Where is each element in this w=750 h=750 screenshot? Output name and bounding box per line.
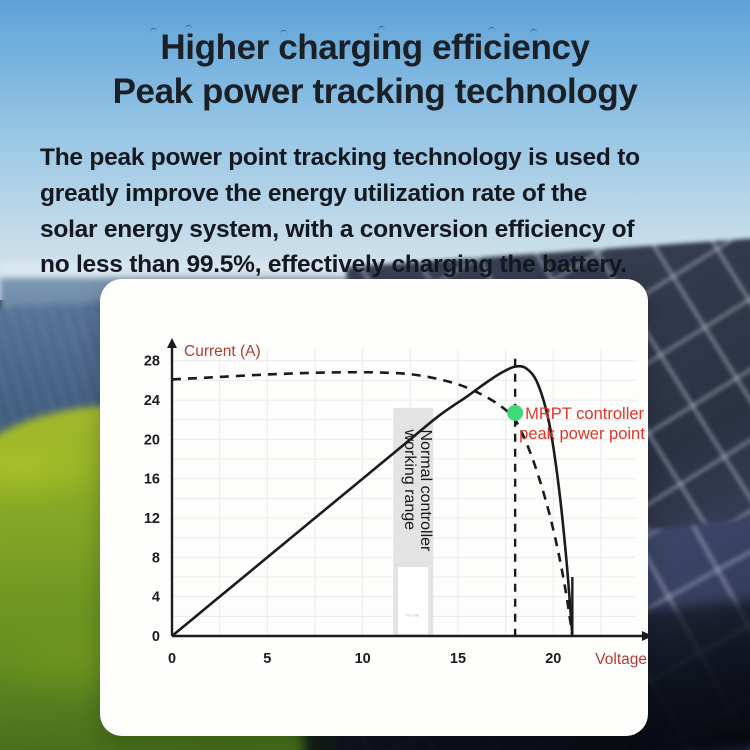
x-tick-label: 20 — [545, 651, 561, 667]
x-tick-label: 5 — [263, 651, 271, 667]
band-label-line-1: Normal controller — [417, 430, 434, 552]
description-line-2: greatly improve the energy utilization r… — [40, 176, 710, 212]
chart-card: Normal controller working range Normal 0… — [100, 279, 648, 736]
description-block: The peak power point tracking technology… — [0, 140, 750, 283]
x-tick-label: 10 — [355, 651, 371, 667]
headline-line-1: Higher charging efficiency — [28, 26, 722, 70]
description-line-3: solar energy system, with a conversion e… — [40, 212, 710, 248]
headline-block: Higher charging efficiency Peak power tr… — [0, 26, 750, 114]
description-line-1: The peak power point tracking technology… — [40, 140, 710, 176]
y-tick-label: 0 — [152, 629, 160, 645]
y-axis-ticks: 0481216202428 — [144, 354, 160, 645]
x-tick-label: 0 — [168, 651, 176, 667]
description-line-4: no less than 99.5%, effectively charging… — [40, 247, 710, 283]
annotation-line-1: MRPT controller — [525, 405, 644, 423]
normal-controller-band: Normal controller working range Normal — [393, 408, 434, 636]
y-tick-label: 28 — [144, 354, 160, 370]
x-axis-label: Voltage (V) — [595, 651, 648, 668]
y-tick-label: 24 — [144, 393, 160, 409]
x-tick-label: 15 — [450, 651, 466, 667]
y-tick-label: 16 — [144, 472, 160, 488]
peak-power-point-marker — [507, 405, 523, 421]
y-tick-label: 12 — [144, 511, 160, 527]
y-tick-label: 4 — [152, 590, 160, 606]
headline-line-2: Peak power tracking technology — [28, 70, 722, 114]
y-tick-label: 20 — [144, 432, 160, 448]
iv-curve-chart: Normal controller working range Normal 0… — [100, 279, 648, 736]
band-micro-text: Normal — [406, 612, 419, 617]
annotation-line-2: peak power point — [519, 425, 645, 443]
y-axis-label: Current (A) — [184, 343, 261, 360]
y-tick-label: 8 — [152, 550, 160, 566]
x-axis-ticks: 05101520 — [168, 651, 561, 667]
